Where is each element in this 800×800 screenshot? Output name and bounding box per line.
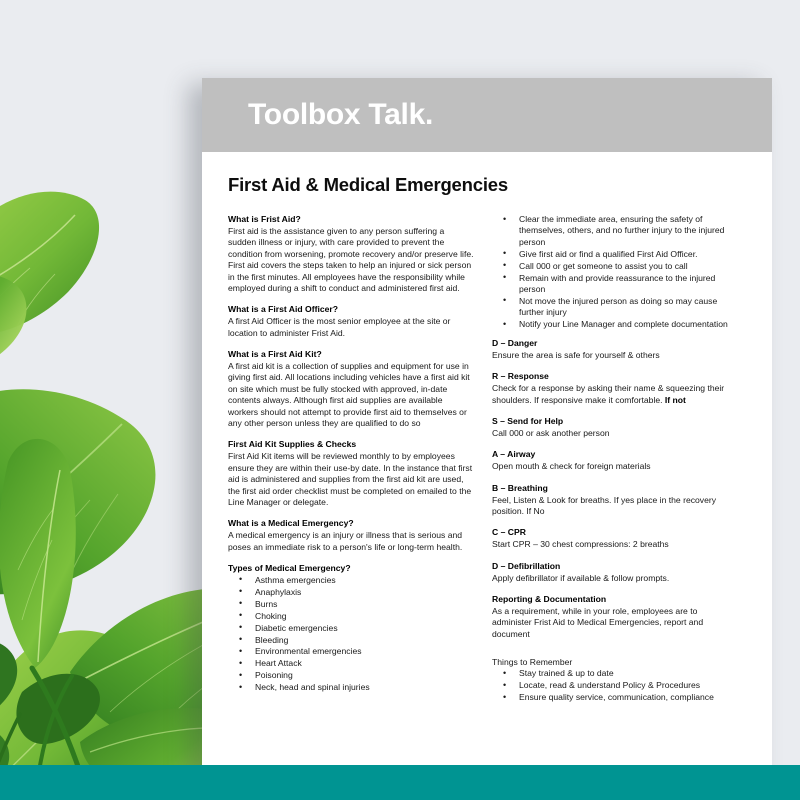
list-item: Stay trained & up to date xyxy=(492,668,738,679)
list-item: Not move the injured person as doing so … xyxy=(492,296,738,319)
section-body: Check for a response by asking their nam… xyxy=(492,383,738,406)
section-body: A first Aid Officer is the most senior e… xyxy=(228,316,474,339)
section-body: Open mouth & check for foreign materials xyxy=(492,461,738,472)
footer-accent-band xyxy=(0,765,800,800)
section-body: A first aid kit is a collection of suppl… xyxy=(228,361,474,430)
emergency-response-list: Clear the immediate area, ensuring the s… xyxy=(492,214,738,331)
section-medical-emergency: What is a Medical Emergency? A medical e… xyxy=(228,518,474,553)
left-column: What is Frist Aid? First aid is the assi… xyxy=(228,214,474,694)
list-item: Diabetic emergencies xyxy=(228,623,474,634)
section-reporting-documentation: Reporting & Documentation As a requireme… xyxy=(492,594,738,640)
list-item: Clear the immediate area, ensuring the s… xyxy=(492,214,738,248)
section-heading: A – Airway xyxy=(492,449,738,460)
list-item: Notify your Line Manager and complete do… xyxy=(492,319,738,330)
section-heading: What is a First Aid Kit? xyxy=(228,349,474,360)
list-item: Neck, head and spinal injuries xyxy=(228,682,474,693)
section-body: Start CPR – 30 chest compressions: 2 bre… xyxy=(492,539,738,550)
section-subheading: Things to Remember xyxy=(492,657,738,668)
list-item: Anaphylaxis xyxy=(228,587,474,598)
section-heading: What is a First Aid Officer? xyxy=(228,304,474,315)
list-item: Locate, read & understand Policy & Proce… xyxy=(492,680,738,691)
types-of-emergency-list: Asthma emergenciesAnaphylaxisBurnsChokin… xyxy=(228,575,474,694)
section-body: As a requirement, while in your role, em… xyxy=(492,606,738,640)
list-item: Asthma emergencies xyxy=(228,575,474,586)
section-heading: B – Breathing xyxy=(492,483,738,494)
section-body: Feel, Listen & Look for breaths. If yes … xyxy=(492,495,738,518)
drsabcd-send-for-help: S – Send for Help Call 000 or ask anothe… xyxy=(492,416,738,439)
section-heading: C – CPR xyxy=(492,527,738,538)
section-first-aid-officer: What is a First Aid Officer? A first Aid… xyxy=(228,304,474,339)
section-first-aid-kit: What is a First Aid Kit? A first aid kit… xyxy=(228,349,474,429)
section-heading: Reporting & Documentation xyxy=(492,594,738,605)
drsabcd-defibrillation: D – Defibrillation Apply defibrillator i… xyxy=(492,561,738,584)
section-heading: What is a Medical Emergency? xyxy=(228,518,474,529)
section-body: First aid is the assistance given to any… xyxy=(228,226,474,295)
section-heading: What is Frist Aid? xyxy=(228,214,474,225)
section-body: First Aid Kit items will be reviewed mon… xyxy=(228,451,474,508)
page-title: First Aid & Medical Emergencies xyxy=(228,174,746,196)
drsabcd-danger: D – Danger Ensure the area is safe for y… xyxy=(492,338,738,361)
section-heading: Types of Medical Emergency? xyxy=(228,563,474,574)
drsabcd-response: R – Response Check for a response by ask… xyxy=(492,371,738,406)
section-body: Apply defibrillator if available & follo… xyxy=(492,573,738,584)
list-item: Remain with and provide reassurance to t… xyxy=(492,273,738,296)
section-heading: R – Response xyxy=(492,371,738,382)
drsabcd-breathing: B – Breathing Feel, Listen & Look for br… xyxy=(492,483,738,518)
toolbox-talk-title: Toolbox Talk. xyxy=(248,98,433,132)
section-types-of-medical-emergency: Types of Medical Emergency? Asthma emerg… xyxy=(228,563,474,694)
document-body: First Aid & Medical Emergencies What is … xyxy=(202,152,772,704)
list-item: Heart Attack xyxy=(228,658,474,669)
things-to-remember-list: Stay trained & up to dateLocate, read & … xyxy=(492,668,738,703)
section-body: Call 000 or ask another person xyxy=(492,428,738,439)
list-item: Choking xyxy=(228,611,474,622)
section-kit-supplies-checks: First Aid Kit Supplies & Checks First Ai… xyxy=(228,439,474,508)
spacer xyxy=(492,650,738,657)
section-heading: D – Defibrillation xyxy=(492,561,738,572)
drsabcd-airway: A – Airway Open mouth & check for foreig… xyxy=(492,449,738,472)
right-column: Clear the immediate area, ensuring the s… xyxy=(492,214,738,704)
two-column-layout: What is Frist Aid? First aid is the assi… xyxy=(228,214,746,704)
drsabcd-cpr: C – CPR Start CPR – 30 chest compression… xyxy=(492,527,738,550)
list-item: Environmental emergencies xyxy=(228,646,474,657)
section-heading: First Aid Kit Supplies & Checks xyxy=(228,439,474,450)
list-item: Burns xyxy=(228,599,474,610)
list-item: Give first aid or find a qualified First… xyxy=(492,249,738,260)
list-item: Poisoning xyxy=(228,670,474,681)
section-heading: S – Send for Help xyxy=(492,416,738,427)
document-page: Toolbox Talk. First Aid & Medical Emerge… xyxy=(202,78,772,778)
section-heading: D – Danger xyxy=(492,338,738,349)
list-item: Bleeding xyxy=(228,635,474,646)
document-header-band: Toolbox Talk. xyxy=(202,78,772,152)
section-body: Ensure the area is safe for yourself & o… xyxy=(492,350,738,361)
section-things-to-remember: Things to Remember Stay trained & up to … xyxy=(492,657,738,704)
spacer xyxy=(492,331,738,338)
list-item: Call 000 or get someone to assist you to… xyxy=(492,261,738,272)
list-item: Ensure quality service, communication, c… xyxy=(492,692,738,703)
section-what-is-first-aid: What is Frist Aid? First aid is the assi… xyxy=(228,214,474,294)
section-body: A medical emergency is an injury or illn… xyxy=(228,530,474,553)
